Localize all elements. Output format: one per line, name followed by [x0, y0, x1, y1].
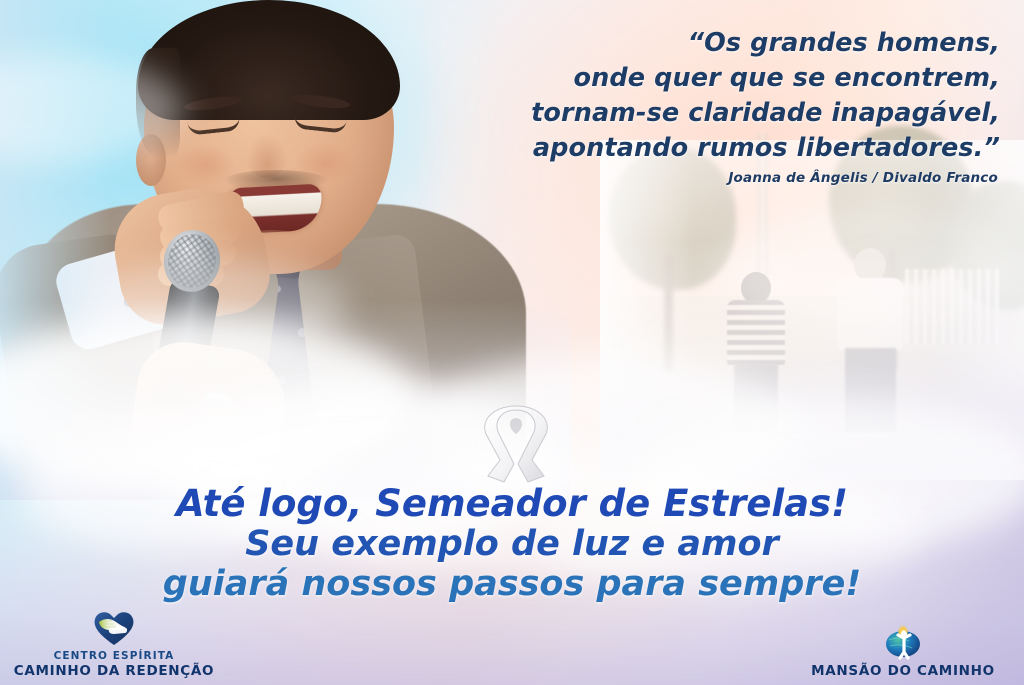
white-ribbon-icon	[476, 404, 556, 490]
logo-line-1: MANSÃO DO CAMINHO	[788, 663, 1018, 679]
quote-line-1: “Os grandes homens,	[440, 26, 1000, 61]
logo-line-2: CAMINHO DA REDENÇÃO	[4, 663, 224, 679]
memorial-poster: “Os grandes homens, onde quer que se enc…	[0, 0, 1024, 685]
logo-line-1: CENTRO ESPÍRITA	[4, 650, 224, 663]
quote-line-2: onde quer que se encontrem,	[440, 61, 1000, 96]
quote-text: “Os grandes homens, onde quer que se enc…	[440, 26, 1000, 166]
headline-line-3: guiará nossos passos para sempre!	[0, 564, 1024, 604]
logo-centro-espirita: CENTRO ESPÍRITA CAMINHO DA REDENÇÃO	[4, 609, 224, 679]
cloud	[717, 206, 1024, 329]
headline-line-2: Seu exemplo de luz e amor	[0, 524, 1024, 564]
quote-line-3: tornam-se claridade inapagável,	[440, 96, 1000, 131]
globe-with-figure-icon	[788, 622, 1018, 660]
quote-line-4: apontando rumos libertadores.”	[440, 131, 1000, 166]
quote-attribution: Joanna de Ângelis / Divaldo Franco	[438, 170, 998, 186]
heart-with-hands-icon	[4, 609, 224, 647]
logo-mansao-do-caminho: MANSÃO DO CAMINHO	[788, 622, 1018, 679]
headline: Até logo, Semeador de Estrelas! Seu exem…	[0, 484, 1024, 604]
headline-line-1: Até logo, Semeador de Estrelas!	[0, 484, 1024, 524]
cloud	[82, 260, 348, 356]
